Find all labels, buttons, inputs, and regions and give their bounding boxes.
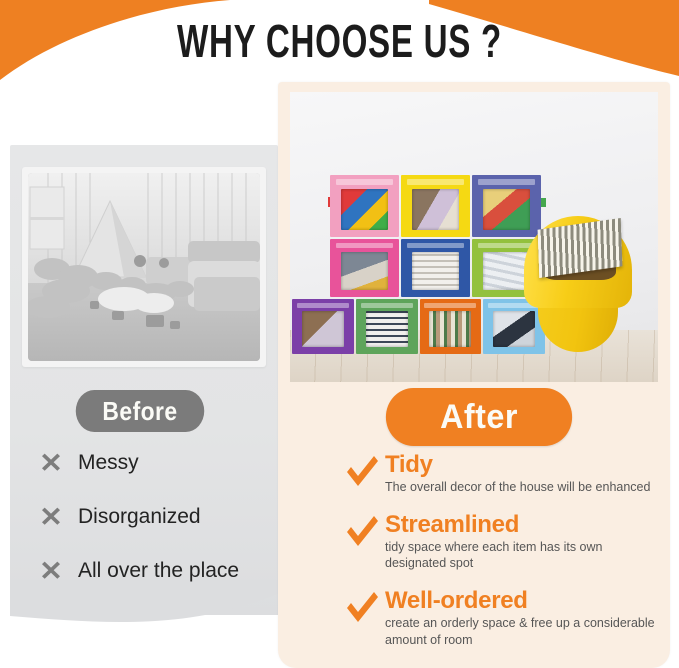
x-mark-icon: ✕ xyxy=(37,450,64,476)
after-item-desc: The overall decor of the house will be e… xyxy=(385,479,650,496)
list-item: Tidy The overall decor of the house will… xyxy=(345,452,675,496)
bin-row xyxy=(330,239,545,297)
bin-row xyxy=(330,175,545,237)
before-photo-frame xyxy=(22,167,266,367)
storage-bin xyxy=(356,299,418,354)
before-item-label: All over the place xyxy=(78,559,239,583)
after-item-desc: create an orderly space & free up a cons… xyxy=(385,615,675,648)
page-title: WHY CHOOSE US ? xyxy=(95,14,584,68)
list-item: ✕ All over the place xyxy=(38,558,288,584)
after-item-title: Tidy xyxy=(385,452,650,477)
poster-canvas: WHY CHOOSE US ? xyxy=(0,0,679,668)
storage-bin xyxy=(292,299,354,354)
list-item: ✕ Disorganized xyxy=(38,504,288,530)
before-item-label: Messy xyxy=(78,451,139,475)
storage-bin xyxy=(420,299,482,354)
check-mark-icon xyxy=(345,454,379,490)
after-item-desc: tidy space where each item has its own d… xyxy=(385,539,653,572)
storage-bin-grid xyxy=(330,175,545,356)
storage-bin xyxy=(401,239,470,297)
list-item: ✕ Messy xyxy=(38,450,288,476)
after-item-title: Well-ordered xyxy=(385,588,675,613)
after-item-title: Streamlined xyxy=(385,512,653,537)
check-mark-icon xyxy=(345,514,379,550)
after-badge-label: After xyxy=(440,398,518,437)
before-badge-label: Before xyxy=(102,396,177,427)
list-item: Well-ordered create an orderly space & f… xyxy=(345,588,675,648)
before-list: ✕ Messy ✕ Disorganized ✕ All over the pl… xyxy=(38,450,288,612)
after-photo-organized-playroom xyxy=(290,92,658,382)
storage-bin xyxy=(330,175,399,237)
after-list: Tidy The overall decor of the house will… xyxy=(345,452,675,664)
before-item-label: Disorganized xyxy=(78,505,201,529)
check-mark-icon xyxy=(345,590,379,626)
x-mark-icon: ✕ xyxy=(37,504,64,530)
list-item: Streamlined tidy space where each item h… xyxy=(345,512,675,572)
before-photo-messy-playroom xyxy=(28,173,260,361)
yellow-ottoman-chair xyxy=(524,216,632,352)
after-badge: After xyxy=(386,388,572,446)
storage-bin xyxy=(330,239,399,297)
before-badge: Before xyxy=(76,390,204,432)
storage-bin xyxy=(401,175,470,237)
bin-row xyxy=(292,299,545,354)
x-mark-icon: ✕ xyxy=(37,558,64,584)
